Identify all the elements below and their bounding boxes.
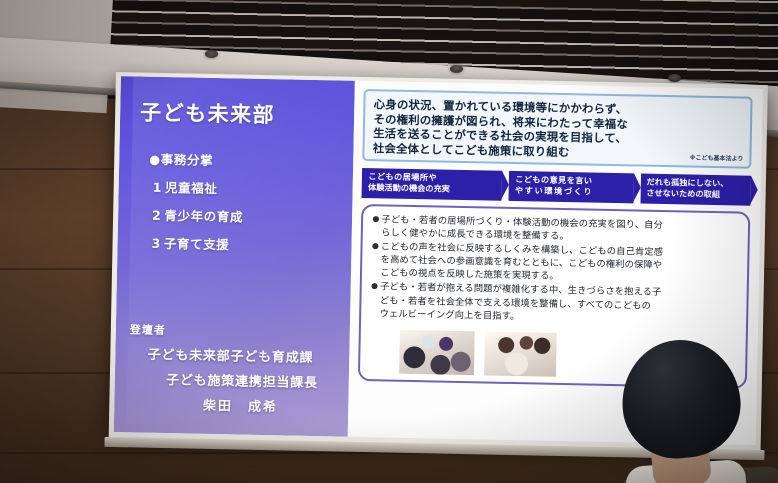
banner-chevron: こどもの意見を言い やすい環境づくり — [509, 171, 634, 203]
banner-line-2: 体験活動の機会の充実 — [368, 183, 497, 197]
banner-line-2: させないための取組 — [646, 188, 746, 201]
speaker-label: 登壇者 — [130, 321, 347, 341]
law-quote-box: 心身の状況、置かれている環境等にかかわらず、 その権利の擁護が図られ、将来にわた… — [363, 89, 753, 169]
activity-photo — [484, 331, 557, 376]
list-item-number: 2 — [152, 208, 162, 223]
bullet-text: 子ども・若者が抱える問題が複雑化する中、生きづらさを抱える子 ども・若者を社会全… — [379, 281, 738, 328]
banner-chevron: だれも孤独にしない、 させないための取組 — [640, 174, 751, 205]
presentation-slide: 子ども未来部 ●事務分掌 1児童福祉 2青少年の育成 3子育て支援 — [114, 76, 763, 445]
photo-strip — [369, 327, 738, 380]
screenshot-stage: 子ども未来部 ●事務分掌 1児童福祉 2青少年の育成 3子育て支援 — [0, 0, 778, 483]
page-title: 子ども未来部 — [140, 96, 347, 130]
list-item-label: 子育て支援 — [164, 236, 230, 252]
duties-heading: ●事務分掌 — [149, 149, 346, 172]
downlight-icon — [668, 74, 681, 82]
list-item: ● こどもの声を社会に反映するしくみを構築し、こどもの自己肯定感 を高めて社会へ… — [371, 240, 739, 287]
speaker-name: 柴田 成希 — [114, 393, 345, 417]
downlight-icon — [450, 65, 463, 73]
list-item: 3子育て支援 — [151, 233, 344, 256]
activity-photo — [399, 330, 475, 375]
list-item-number: 3 — [151, 236, 161, 251]
quote-source-note: ※こども基本法より — [690, 153, 744, 163]
list-item: ● 子ども・若者が抱える問題が複雑化する中、生きづらさを抱える子 ども・若者を社… — [370, 281, 738, 328]
banner-row: こどもの居場所や 体験活動の機会の充実 こどもの意見を言い やすい環境づくり だ… — [362, 168, 751, 205]
duties-list: ●事務分掌 1児童福祉 2青少年の育成 3子育て支援 — [147, 149, 345, 256]
projection-screen: 子ども未来部 ●事務分掌 1児童福祉 2青少年の育成 3子育て支援 — [109, 72, 768, 451]
banner-chevron: こどもの居場所や 体験活動の機会の充実 — [362, 168, 502, 200]
downlight-icon — [205, 50, 218, 58]
banner-line-2: やすい環境づくり — [515, 185, 629, 198]
list-item-label: 青少年の育成 — [164, 208, 243, 225]
list-item: 1児童福祉 — [153, 177, 346, 200]
speaker-block: 登壇者 子ども未来部子ども育成課 子ども施策連携担当課長 柴田 成希 — [114, 321, 346, 423]
bullet-text: こどもの声を社会に反映するしくみを構築し、こどもの自己肯定感 を高めて社会への参… — [380, 240, 739, 287]
speaker-division: 子ども未来部子ども育成課 — [115, 343, 346, 367]
list-item-number: 1 — [153, 180, 163, 195]
initiatives-card: ● 子ども・若者の居場所づくり・体験活動の機会の充実を図り、自分 らしく健やかに… — [358, 203, 750, 388]
slide-left-panel: 子ども未来部 ●事務分掌 1児童福祉 2青少年の育成 3子育て支援 — [114, 76, 355, 437]
speaker-position: 子ども施策連携担当課長 — [115, 368, 346, 392]
list-item: 2青少年の育成 — [152, 205, 345, 228]
list-item-label: 児童福祉 — [165, 180, 218, 196]
slide-right-panel: 心身の状況、置かれている環境等にかかわらず、 その権利の擁護が図られ、将来にわた… — [348, 81, 763, 445]
